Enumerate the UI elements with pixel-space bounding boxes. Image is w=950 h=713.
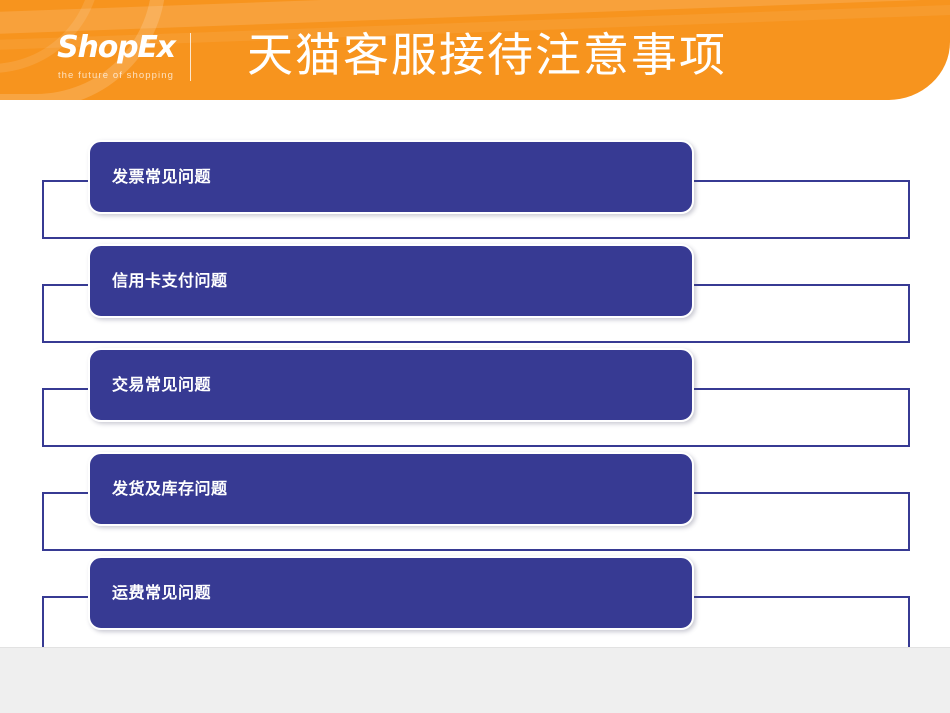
topic-row-label: 发货及库存问题	[112, 454, 228, 524]
topic-row-pill[interactable]: 运费常见问题	[88, 556, 694, 630]
topic-row: 发货及库存问题	[0, 452, 950, 556]
topic-row-label: 运费常见问题	[112, 558, 211, 628]
logo-wordmark: ShopEx	[52, 33, 180, 63]
logo-tagline: the future of shopping	[52, 70, 180, 81]
topic-row-label: 信用卡支付问题	[112, 246, 228, 316]
topic-row: 信用卡支付问题	[0, 244, 950, 348]
topic-row-pill[interactable]: 信用卡支付问题	[88, 244, 694, 318]
topic-row-label: 交易常见问题	[112, 350, 211, 420]
topic-row: 运费常见问题	[0, 556, 950, 660]
shopex-logo: ShopEx the future of shopping	[52, 33, 180, 81]
page-title: 天猫客服接待注意事项	[247, 24, 727, 86]
header-divider	[190, 33, 191, 81]
slide-canvas: ShopEx the future of shopping 天猫客服接待注意事项…	[0, 0, 950, 713]
topic-list: 发票常见问题 信用卡支付问题 交易常见问题 发货及库存问题 运费常见问题	[0, 140, 950, 660]
topic-row-pill[interactable]: 发票常见问题	[88, 140, 694, 214]
topic-row-label: 发票常见问题	[112, 142, 211, 212]
topic-row: 交易常见问题	[0, 348, 950, 452]
topic-row: 发票常见问题	[0, 140, 950, 244]
topic-row-pill[interactable]: 交易常见问题	[88, 348, 694, 422]
topic-row-pill[interactable]: 发货及库存问题	[88, 452, 694, 526]
footer-bar	[0, 647, 950, 713]
